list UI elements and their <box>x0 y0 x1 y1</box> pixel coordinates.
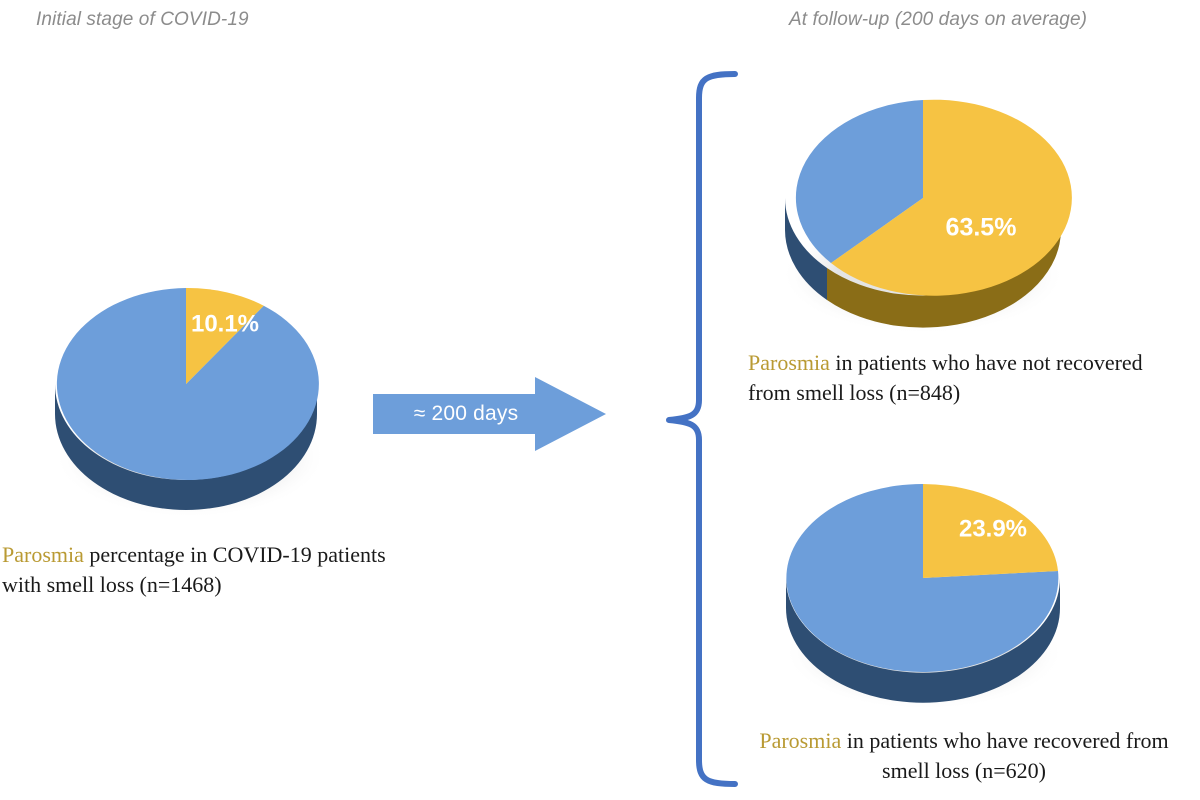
pie-percent-label-not-recovered: 63.5% <box>946 214 1017 242</box>
pie-percent-label-recovered: 23.9% <box>959 515 1027 542</box>
transition-arrow: ≈ 200 days <box>373 374 609 454</box>
caption-keyword: Parosmia <box>748 350 830 375</box>
grouping-brace <box>655 64 750 794</box>
figure-canvas: Initial stage of COVID-19 At follow-up (… <box>0 0 1200 800</box>
pie-percent-label-initial: 10.1% <box>191 310 259 337</box>
pie-chart-initial-stage: 10.1% <box>50 246 340 526</box>
pie-chart-recovered: 23.9% <box>778 446 1074 718</box>
arrow-shape <box>373 377 606 451</box>
caption-recovered: Parosmia in patients who have recovered … <box>736 726 1192 785</box>
section-header-follow-up: At follow-up (200 days on average) <box>789 9 1087 31</box>
caption-initial-stage: Parosmia percentage in COVID-19 patients… <box>2 540 402 599</box>
section-header-initial-stage: Initial stage of COVID-19 <box>36 9 249 31</box>
caption-keyword: Parosmia <box>759 728 841 753</box>
caption-keyword: Parosmia <box>2 542 84 567</box>
brace-path <box>669 74 735 784</box>
caption-text: in patients who have recovered from smel… <box>841 728 1168 783</box>
pie-chart-not-recovered: 63.5% <box>775 62 1075 342</box>
caption-not-recovered: Parosmia in patients who have not recove… <box>748 348 1188 407</box>
